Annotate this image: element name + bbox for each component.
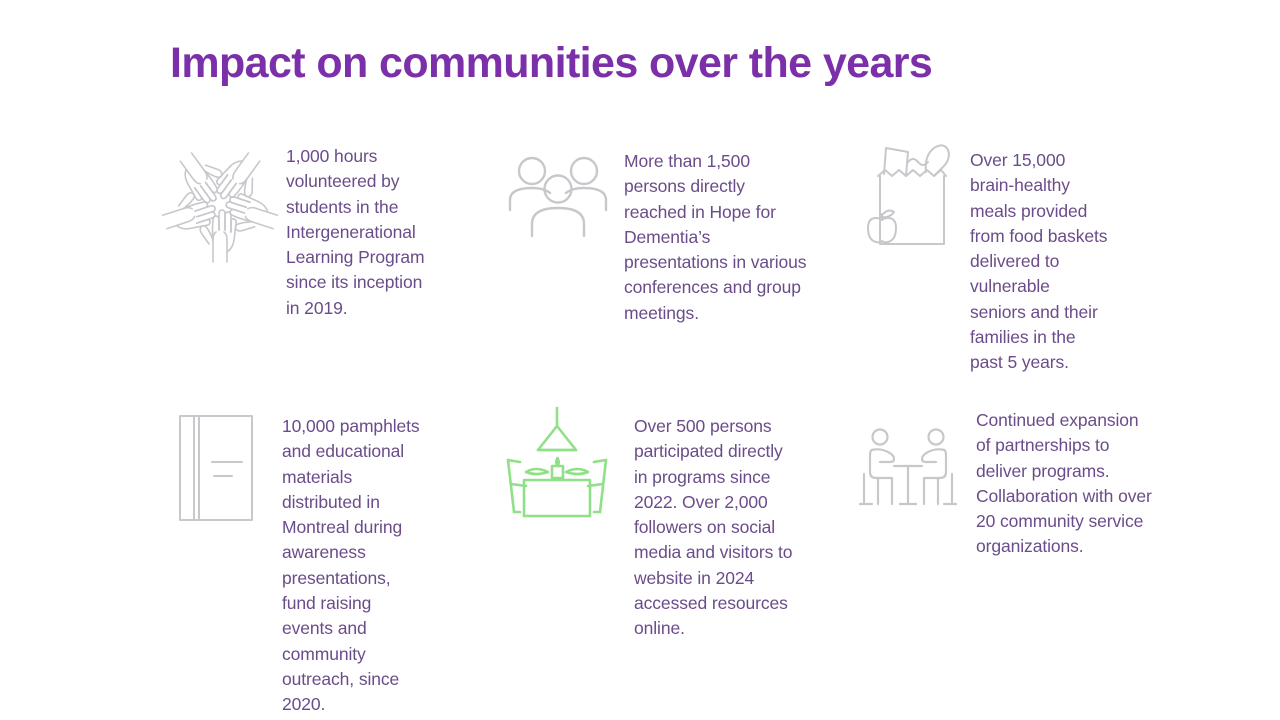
dining-table-icon xyxy=(498,406,616,526)
three-people-icon xyxy=(508,154,608,238)
page-title: Impact on communities over the years xyxy=(170,40,932,87)
hands-circle-icon xyxy=(168,144,272,264)
two-people-at-table-icon xyxy=(858,428,958,518)
slide-canvas: Impact on communities over the years xyxy=(0,0,1280,720)
stat-text-pamphlets: 10,000 pamphlets and educational materia… xyxy=(282,414,462,718)
stat-card-volunteer-hours: 1,000 hours volunteered by students in t… xyxy=(168,132,498,321)
book-icon xyxy=(174,412,258,524)
stat-text-meals-provided: Over 15,000 brain-healthy meals provided… xyxy=(970,148,1170,376)
stat-text-persons-reached: More than 1,500 persons directly reached… xyxy=(624,149,854,326)
stats-row-top: 1,000 hours volunteered by students in t… xyxy=(168,132,1188,382)
stat-text-volunteer-hours: 1,000 hours volunteered by students in t… xyxy=(286,144,486,321)
stat-text-program-participants: Over 500 persons participated directly i… xyxy=(634,414,834,642)
stat-card-meals-provided: Over 15,000 brain-healthy meals provided… xyxy=(858,132,1188,376)
stat-card-persons-reached: More than 1,500 persons directly reached… xyxy=(498,132,858,326)
stats-row-bottom: 10,000 pamphlets and educational materia… xyxy=(168,400,1188,718)
stat-card-program-participants: Over 500 persons participated directly i… xyxy=(498,400,858,642)
grocery-bag-icon xyxy=(864,140,956,250)
stat-card-partnerships: Continued expansion of partnerships to d… xyxy=(858,400,1188,560)
stat-card-pamphlets: 10,000 pamphlets and educational materia… xyxy=(168,400,498,718)
stats-grid: 1,000 hours volunteered by students in t… xyxy=(168,132,1188,718)
stat-text-partnerships: Continued expansion of partnerships to d… xyxy=(976,408,1188,560)
